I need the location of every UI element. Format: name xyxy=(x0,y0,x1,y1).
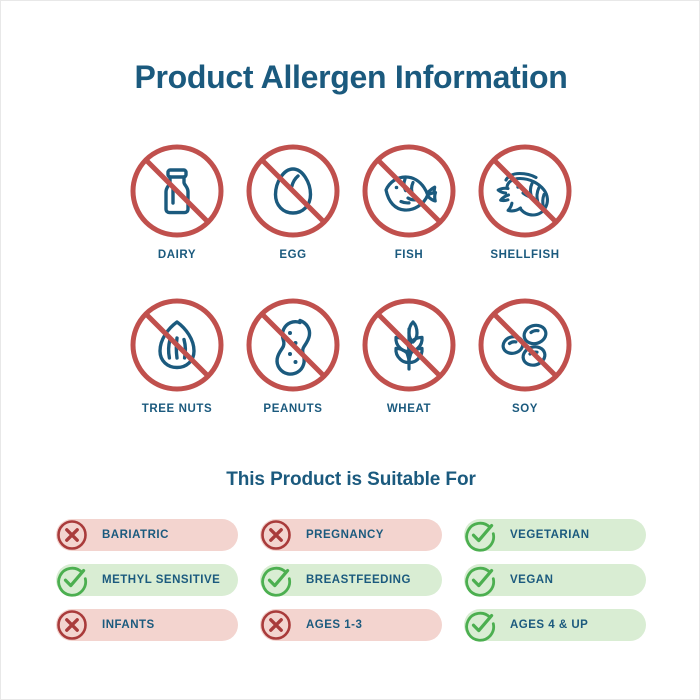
allergen-item-peanuts: PEANUTS xyxy=(235,297,351,415)
no-symbol xyxy=(481,147,569,235)
circle-check-icon xyxy=(463,563,497,597)
no-symbol xyxy=(249,147,337,235)
allergen-label: DAIRY xyxy=(158,249,196,261)
suitability-pill-breastfeeding: BREASTFEEDING xyxy=(260,564,442,596)
no-symbol xyxy=(133,147,221,235)
allergen-item-wheat: WHEAT xyxy=(351,297,467,415)
suitability-pill-methyl-sensitive: METHYL SENSITIVE xyxy=(56,564,238,596)
no-symbol xyxy=(133,301,221,389)
allergen-item-shellfish: SHELLFISH xyxy=(467,143,583,261)
prohibition-circle-wheat xyxy=(361,297,457,393)
suitability-pill-vegan: VEGAN xyxy=(464,564,646,596)
prohibition-circle-egg xyxy=(245,143,341,239)
suitability-label: VEGAN xyxy=(510,574,553,586)
prohibition-circle-peanuts xyxy=(245,297,341,393)
circle-check-icon xyxy=(463,518,497,552)
suitability-pill-ages-4-and-up: AGES 4 & UP xyxy=(464,609,646,641)
suitability-pill-infants: INFANTS xyxy=(56,609,238,641)
suitability-grid: BARIATRIC PREGNANCY VEGETARIAN xyxy=(56,519,646,641)
no-symbol xyxy=(365,147,453,235)
suitability-label: VEGETARIAN xyxy=(510,529,590,541)
prohibition-circle-dairy xyxy=(129,143,225,239)
suitability-label: METHYL SENSITIVE xyxy=(102,574,220,586)
suitable-for-heading: This Product is Suitable For xyxy=(1,469,700,491)
prohibition-circle-tree-nuts xyxy=(129,297,225,393)
suitability-label: BREASTFEEDING xyxy=(306,574,411,586)
allergen-item-dairy: DAIRY xyxy=(119,143,235,261)
circle-x-icon xyxy=(55,608,89,642)
circle-x-icon xyxy=(55,518,89,552)
allergen-label: TREE NUTS xyxy=(142,403,213,415)
suitability-label: PREGNANCY xyxy=(306,529,384,541)
allergen-label: PEANUTS xyxy=(263,403,322,415)
allergen-label: WHEAT xyxy=(387,403,431,415)
suitability-label: BARIATRIC xyxy=(102,529,169,541)
suitability-pill-ages-1-3: AGES 1-3 xyxy=(260,609,442,641)
allergen-label: SOY xyxy=(512,403,538,415)
suitability-pill-pregnancy: PREGNANCY xyxy=(260,519,442,551)
circle-check-icon xyxy=(55,563,89,597)
circle-check-icon xyxy=(463,608,497,642)
page-title: Product Allergen Information xyxy=(1,59,700,96)
allergen-item-fish: FISH xyxy=(351,143,467,261)
prohibition-circle-fish xyxy=(361,143,457,239)
prohibition-circle-soy xyxy=(477,297,573,393)
allergen-item-tree-nuts: TREE NUTS xyxy=(119,297,235,415)
suitability-label: INFANTS xyxy=(102,619,155,631)
allergen-item-soy: SOY xyxy=(467,297,583,415)
no-symbol xyxy=(249,301,337,389)
allergen-item-egg: EGG xyxy=(235,143,351,261)
suitability-pill-bariatric: BARIATRIC xyxy=(56,519,238,551)
suitability-pill-vegetarian: VEGETARIAN xyxy=(464,519,646,551)
prohibition-circle-shellfish xyxy=(477,143,573,239)
circle-check-icon xyxy=(259,563,293,597)
allergen-info-card: Product Allergen Information DAIRY xyxy=(0,0,700,700)
suitability-label: AGES 1-3 xyxy=(306,619,362,631)
allergen-label: EGG xyxy=(279,249,306,261)
no-symbol xyxy=(481,301,569,389)
allergen-label: SHELLFISH xyxy=(490,249,559,261)
allergen-label: FISH xyxy=(395,249,424,261)
suitability-label: AGES 4 & UP xyxy=(510,619,588,631)
allergen-grid: DAIRY EGG xyxy=(119,143,583,415)
circle-x-icon xyxy=(259,608,293,642)
circle-x-icon xyxy=(259,518,293,552)
no-symbol xyxy=(365,301,453,389)
